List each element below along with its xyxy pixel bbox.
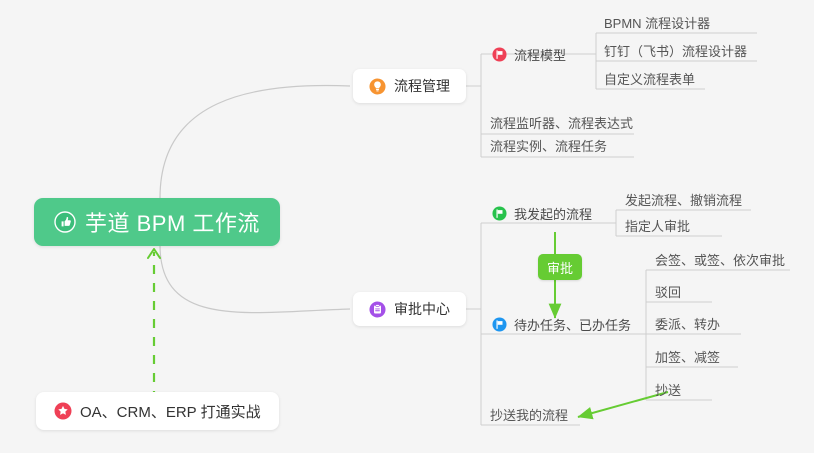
leaf-label: 委派、转办 — [655, 314, 720, 333]
leaf-dingtalk-feishu-designer[interactable]: 钉钉（飞书）流程设计器 — [604, 40, 747, 60]
branch-approval-center[interactable]: 审批中心 — [353, 292, 466, 326]
bottom-note-node[interactable]: OA、CRM、ERP 打通实战 — [36, 392, 279, 430]
branch-label: 流程管理 — [394, 76, 450, 96]
leaf-label: 指定人审批 — [625, 216, 690, 235]
wire-root-to-process-management — [160, 85, 350, 198]
leaf-cc-to-me-process[interactable]: 抄送我的流程 — [490, 404, 568, 424]
thumbs-up-icon — [54, 211, 76, 233]
callout-approval[interactable]: 审批 — [538, 254, 582, 280]
branch-process-management[interactable]: 流程管理 — [353, 69, 466, 103]
flag-green-icon — [492, 206, 507, 221]
leaf-start-cancel-process[interactable]: 发起流程、撤销流程 — [625, 189, 742, 209]
root-label: 芋道 BPM 工作流 — [85, 206, 260, 238]
star-icon — [54, 402, 72, 420]
leaf-label: 钉钉（飞书）流程设计器 — [604, 41, 747, 60]
callout-label: 审批 — [547, 258, 573, 277]
mindmap-canvas: 芋道 BPM 工作流 OA、CRM、ERP 打通实战 流程管理 — [0, 0, 814, 453]
lightbulb-icon — [369, 78, 386, 95]
branch-label: 审批中心 — [394, 299, 450, 319]
arrow-note-to-root-head — [148, 249, 160, 258]
node-label: 我发起的流程 — [514, 204, 592, 223]
leaf-bpmn-designer[interactable]: BPMN 流程设计器 — [604, 12, 710, 32]
clipboard-icon — [369, 301, 386, 318]
leaf-label: 会签、或签、依次审批 — [655, 250, 785, 269]
leaf-delegate-transfer[interactable]: 委派、转办 — [655, 313, 720, 333]
leaf-label: 流程实例、流程任务 — [490, 136, 607, 155]
node-process-model[interactable]: 流程模型 — [492, 43, 566, 65]
bottom-note-label: OA、CRM、ERP 打通实战 — [80, 401, 261, 422]
leaf-label: 加签、减签 — [655, 347, 720, 366]
root-node[interactable]: 芋道 BPM 工作流 — [34, 198, 280, 246]
leaf-label: 流程监听器、流程表达式 — [490, 113, 633, 132]
leaf-label: 发起流程、撤销流程 — [625, 190, 742, 209]
leaf-label: BPMN 流程设计器 — [604, 13, 710, 32]
flag-red-icon — [492, 47, 507, 62]
leaf-label: 自定义流程表单 — [604, 69, 695, 88]
node-todo-done-task[interactable]: 待办任务、已办任务 — [492, 313, 631, 335]
leaf-process-listener-expression[interactable]: 流程监听器、流程表达式 — [490, 112, 633, 132]
leaf-countersign[interactable]: 会签、或签、依次审批 — [655, 249, 785, 269]
leaf-reject[interactable]: 驳回 — [655, 281, 681, 301]
leaf-label: 抄送 — [655, 380, 681, 399]
leaf-label: 抄送我的流程 — [490, 405, 568, 424]
leaf-custom-process-form[interactable]: 自定义流程表单 — [604, 68, 695, 88]
leaf-process-instance-task[interactable]: 流程实例、流程任务 — [490, 135, 607, 155]
node-my-initiated-process[interactable]: 我发起的流程 — [492, 202, 592, 224]
leaf-assignee-approval[interactable]: 指定人审批 — [625, 215, 690, 235]
node-label: 流程模型 — [514, 45, 566, 64]
wire-root-to-approval-center — [160, 245, 350, 313]
node-label: 待办任务、已办任务 — [514, 315, 631, 334]
leaf-add-remove-sign[interactable]: 加签、减签 — [655, 346, 720, 366]
flag-blue-icon — [492, 317, 507, 332]
leaf-label: 驳回 — [655, 282, 681, 301]
leaf-carbon-copy[interactable]: 抄送 — [655, 379, 681, 399]
